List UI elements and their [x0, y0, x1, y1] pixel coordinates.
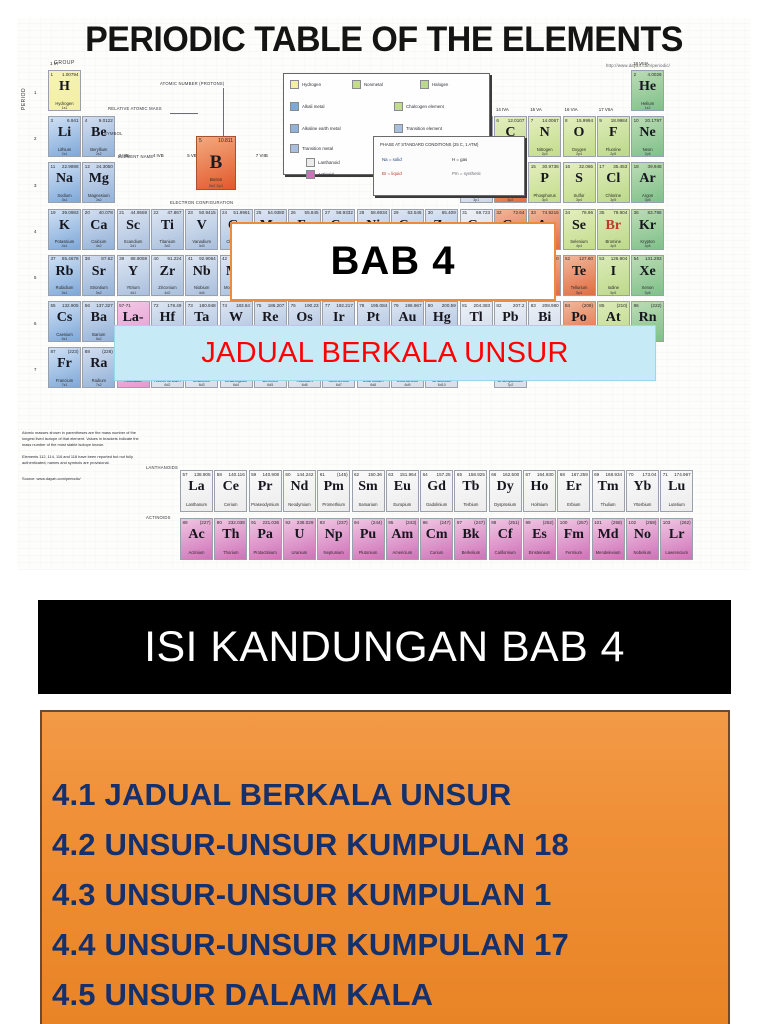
atomic-mass: 173.04: [642, 472, 656, 477]
contents-heading-bar: ISI KANDUNGAN BAB 4: [38, 600, 731, 694]
atomic-number: 34: [565, 210, 570, 215]
atomic-mass: (262): [680, 520, 691, 525]
element-cell-P: 1530.9738PPhosphorus3p3: [528, 162, 561, 203]
atomic-number: 83: [531, 303, 536, 308]
element-symbol: Lu: [661, 480, 692, 494]
element-cell-V: 2350.9415VVanadium3d3: [185, 209, 218, 250]
legend-phase-label: Na = solid: [382, 157, 402, 162]
key-atomic-mass: 10.811: [218, 138, 233, 144]
atomic-number: 35: [599, 210, 604, 215]
periodic-table-footnote: Atomic masses shown in parentheses are t…: [22, 430, 140, 545]
atomic-number: 18: [634, 164, 639, 169]
electron-config: 2s1: [49, 152, 80, 156]
element-symbol: K: [49, 219, 80, 233]
legend-swatch-icon: [290, 80, 299, 89]
atomic-mass: 186.207: [268, 303, 285, 308]
atomic-mass: 85.4678: [62, 256, 79, 261]
element-symbol: I: [598, 265, 629, 279]
atomic-mass: (258): [611, 520, 622, 525]
atomic-number: 75: [256, 303, 261, 308]
element-symbol: Gd: [421, 480, 452, 494]
atomic-mass: 138.905: [194, 472, 211, 477]
atomic-number: 27: [325, 210, 330, 215]
atomic-mass: 207.2: [513, 303, 525, 308]
element-symbol: V: [186, 219, 217, 233]
period-number-5: 5: [34, 275, 36, 280]
chapter-subtitle-text: JADUAL BERKALA UNSUR: [201, 337, 569, 370]
annotation-symbol: SYMBOL: [104, 131, 123, 136]
electron-config: 3p3: [529, 198, 560, 202]
atomic-number: 24: [222, 210, 227, 215]
atomic-number: 23: [188, 210, 193, 215]
element-symbol: Cl: [598, 172, 629, 186]
legend-item-4: Alkali metal: [290, 102, 324, 111]
atomic-number: 63: [388, 472, 393, 477]
element-name: Uranium: [284, 550, 315, 555]
legend-phase-title: PHASE AT STANDARD CONDITIONS (25 C, 1 AT…: [380, 142, 478, 147]
element-name: Erbium: [558, 502, 589, 507]
element-symbol: Y: [118, 265, 149, 279]
electron-config: 2p4: [564, 152, 595, 156]
contents-item-4[interactable]: 4.4 UNSUR-UNSUR KUMPULAN 17: [48, 920, 728, 970]
element-symbol: Bk: [455, 528, 486, 542]
element-symbol: Xe: [632, 265, 663, 279]
element-cell-O: 815.9994OOxygen2p4: [563, 116, 596, 157]
element-cell-Ca: 2040.078CaCalcium4s2: [82, 209, 115, 250]
element-symbol: Ir: [323, 311, 354, 325]
atomic-number: 77: [325, 303, 330, 308]
period-number-1: 1: [34, 90, 36, 95]
electron-config: 3d2: [152, 244, 183, 248]
element-cell-Na: 1122.9898NaSodium3s1: [48, 162, 81, 203]
element-symbol: Nb: [186, 265, 217, 279]
atomic-number: 67: [526, 472, 531, 477]
atomic-number: 20: [85, 210, 90, 215]
annotation-element-name: ELEMENT NAME: [118, 154, 153, 159]
element-symbol: Ar: [632, 172, 663, 186]
atomic-mass: 231.036: [262, 520, 279, 525]
element-symbol: Sc: [118, 219, 149, 233]
legend-swatch-icon: [290, 102, 299, 111]
atomic-mass: 238.029: [297, 520, 314, 525]
group-header-1: 1 IA: [50, 61, 58, 66]
key-element-name: Boron: [197, 177, 235, 182]
element-symbol: P: [529, 172, 560, 186]
electron-config: 3p2: [495, 198, 526, 202]
element-cell-He: 24.0026HeHelium1s2: [631, 70, 664, 111]
atomic-mass: 195.084: [371, 303, 388, 308]
contents-item-5[interactable]: 4.5 UNSUR DALAM KALA: [48, 970, 728, 1020]
element-symbol: Rn: [632, 311, 663, 325]
legend-label: Halogen: [432, 82, 448, 87]
contents-heading-text: ISI KANDUNGAN BAB 4: [144, 623, 625, 672]
element-symbol: Br: [598, 219, 629, 233]
atomic-number: 91: [251, 520, 256, 525]
atomic-number: 8: [565, 118, 568, 123]
legend-swatch-icon: [352, 80, 361, 89]
element-symbol: Eu: [387, 480, 418, 494]
electron-config: 3p5: [598, 198, 629, 202]
element-symbol: Pu: [353, 528, 384, 542]
key-symbol: B: [197, 152, 235, 174]
electron-config: 7s2: [83, 383, 114, 387]
element-symbol: Am: [387, 528, 418, 542]
element-symbol: Np: [318, 528, 349, 542]
actinide-cell-No: 102(259)NoNobelium: [626, 518, 659, 560]
contents-panel: 4.1 JADUAL BERKALA UNSUR4.2 UNSUR-UNSUR …: [40, 710, 730, 1024]
atomic-mass: 20.1797: [645, 118, 662, 123]
atomic-mass: (210): [617, 303, 628, 308]
element-symbol: Au: [392, 311, 423, 325]
element-cell-Rb: 3785.4678RbRubidium5s1: [48, 255, 81, 296]
atomic-mass: (222): [651, 303, 662, 308]
element-symbol: O: [564, 126, 595, 140]
element-name: Ytterbium: [627, 502, 658, 507]
element-symbol: Kr: [632, 219, 663, 233]
atomic-mass: 167.259: [571, 472, 588, 477]
atomic-mass: 190.23: [305, 303, 319, 308]
atomic-mass: 54.9380: [268, 210, 285, 215]
legend-swatch-icon: [420, 80, 429, 89]
atomic-number: 22: [153, 210, 158, 215]
atomic-number: 76: [291, 303, 296, 308]
atomic-mass: (251): [508, 520, 519, 525]
atomic-mass: 162.500: [503, 472, 520, 477]
atomic-mass: (226): [102, 349, 113, 354]
period-number-7: 7: [34, 367, 36, 372]
atomic-number: 10: [634, 118, 639, 123]
element-symbol: Te: [564, 265, 595, 279]
annotation-leader-line-1: [223, 88, 224, 136]
atomic-number: 71: [663, 472, 668, 477]
element-name: Americium: [387, 550, 418, 555]
atomic-number: 21: [119, 210, 124, 215]
element-name: Lanthanum: [181, 502, 212, 507]
annotation-atomic-number: ATOMIC NUMBER (PROTONS): [160, 81, 224, 86]
legend-swatch-icon: [306, 170, 315, 179]
element-name: Europium: [387, 502, 418, 507]
legend-label: Hydrogen: [302, 82, 321, 87]
atomic-mass: 158.925: [468, 472, 485, 477]
element-symbol: Cm: [421, 528, 452, 542]
contents-item-1[interactable]: 4.1 JADUAL BERKALA UNSUR: [48, 770, 728, 820]
chapter-subtitle-box: JADUAL BERKALA UNSUR: [114, 325, 656, 381]
element-symbol: Dy: [490, 480, 521, 494]
element-symbol: Pr: [250, 480, 281, 494]
atomic-number: 26: [291, 210, 296, 215]
atomic-mass: (247): [474, 520, 485, 525]
legend-item-3: Halogen: [420, 80, 448, 89]
actinide-cell-Cm: 96(247)CmCurium: [420, 518, 453, 560]
atomic-number: 95: [388, 520, 393, 525]
element-symbol: N: [529, 126, 560, 140]
annotation-relative-mass: RELATIVE ATOMIC MASS: [108, 106, 162, 111]
atomic-number: 85: [599, 303, 604, 308]
actinide-cell-Es: 99(252)EsEinsteinium: [523, 518, 556, 560]
atomic-mass: 137.327: [96, 303, 113, 308]
element-symbol: La: [181, 480, 212, 494]
atomic-number: 33: [531, 210, 536, 215]
period-number-6: 6: [34, 321, 36, 326]
actinide-cell-Am: 95(243)AmAmericium: [386, 518, 419, 560]
lanthanide-cell-Tb: 65158.925TbTerbium: [454, 470, 487, 512]
element-name: Thorium: [215, 550, 246, 555]
atomic-mass: 78.96: [582, 210, 594, 215]
atomic-mass: 1.00794: [62, 72, 79, 77]
electron-config: 5s2: [83, 291, 114, 295]
key-example-element: 5 10.811 B Boron 2s2 2p1: [196, 136, 236, 190]
element-name: Promethium: [318, 502, 349, 507]
atomic-mass: 168.934: [605, 472, 622, 477]
atomic-mass: 58.6934: [371, 210, 388, 215]
legend-label: Alkaline earth metal: [302, 126, 341, 131]
element-cell-Xe: 54131.293XeXenon5p6: [631, 255, 664, 296]
element-symbol: Pm: [318, 480, 349, 494]
legend-phase-label: Br = liquid: [382, 171, 402, 176]
actinide-cell-Np: 93(237)NpNeptunium: [317, 518, 350, 560]
electron-config: 2p5: [598, 152, 629, 156]
legend-phase-box: PHASE AT STANDARD CONDITIONS (25 C, 1 AT…: [373, 136, 525, 196]
atomic-mass: 65.409: [442, 210, 456, 215]
atomic-mass: (209): [582, 303, 593, 308]
atomic-number: 60: [285, 472, 290, 477]
atomic-number: 12: [85, 164, 90, 169]
atomic-number: 6: [496, 118, 499, 123]
electron-config: 6d10: [426, 383, 457, 387]
element-cell-Sr: 3887.62SrStrontium5s2: [82, 255, 115, 296]
element-name: Californium: [490, 550, 521, 555]
atomic-number: 58: [217, 472, 222, 477]
legend-label: Nonmetal: [364, 82, 383, 87]
lanthanoid-row-label: LANTHANOIDS: [146, 465, 178, 470]
electron-config: 6d6: [289, 383, 320, 387]
lanthanide-cell-Lu: 71174.967LuLutetium: [660, 470, 693, 512]
annotation-leader-line-2: [170, 113, 198, 114]
atomic-mass: (257): [577, 520, 588, 525]
element-symbol: Ra: [83, 357, 114, 371]
contents-item-2[interactable]: 4.2 UNSUR-UNSUR KUMPULAN 18: [48, 820, 728, 870]
element-symbol: S: [564, 172, 595, 186]
atomic-number: 52: [565, 256, 570, 261]
element-cell-N: 714.0067NNitrogen2p3: [528, 116, 561, 157]
atomic-mass: 4.0026: [648, 72, 662, 77]
atomic-number: 9: [599, 118, 602, 123]
atomic-mass: 18.9984: [611, 118, 628, 123]
element-symbol: Ca: [83, 219, 114, 233]
period-number-4: 4: [34, 229, 36, 234]
lanthanide-cell-Dy: 66162.500DyDysprosium: [489, 470, 522, 512]
atomic-mass: 69.723: [476, 210, 490, 215]
period-axis-label: PERIOD: [21, 88, 27, 110]
element-symbol: Tl: [461, 311, 492, 325]
legend-item-11: Actinoid: [306, 170, 334, 179]
element-name: Holmium: [524, 502, 555, 507]
atomic-number: 86: [634, 303, 639, 308]
element-name: Fermium: [558, 550, 589, 555]
atomic-number: 98: [491, 520, 496, 525]
element-symbol: Yb: [627, 480, 658, 494]
electron-config: 6d7: [323, 383, 354, 387]
electron-config: 3d3: [186, 244, 217, 248]
legend-phase-item-4: H = gas: [452, 157, 467, 162]
element-symbol: Li: [49, 126, 80, 140]
atomic-mass: (252): [543, 520, 554, 525]
element-cell-Ne: 1020.1797NeNeon2p6: [631, 116, 664, 157]
atomic-mass: 180.948: [199, 303, 216, 308]
lanthanide-cell-Pm: 61(145)PmPromethium: [317, 470, 350, 512]
atomic-mass: 178.49: [167, 303, 181, 308]
lanthanide-cell-Gd: 64157.25GdGadolinium: [420, 470, 453, 512]
atomic-mass: 63.546: [407, 210, 421, 215]
atomic-number: 15: [531, 164, 536, 169]
element-symbol: Hg: [426, 311, 457, 325]
atomic-number: 68: [560, 472, 565, 477]
lanthanide-cell-La: 57138.905LaLanthanum: [180, 470, 213, 512]
legend-label: Chalcogen element: [406, 104, 444, 109]
atomic-mass: (145): [337, 472, 348, 477]
periodic-table-title: PERIODIC TABLE OF THE ELEMENTS: [29, 20, 739, 60]
atomic-mass: 164.930: [537, 472, 554, 477]
lanthanide-cell-Ce: 58140.116CeCerium: [214, 470, 247, 512]
atomic-mass: 174.967: [674, 472, 691, 477]
atomic-number: 42: [222, 256, 227, 261]
atomic-mass: 183.84: [236, 303, 250, 308]
element-name: Lutetium: [661, 502, 692, 507]
atomic-mass: 74.9216: [542, 210, 559, 215]
element-cell-Te: 52127.60TeTellurium5p4: [563, 255, 596, 296]
actinide-cell-Th: 90232.038ThThorium: [214, 518, 247, 560]
element-cell-Cl: 1735.453ClChlorine3p5: [597, 162, 630, 203]
element-symbol: Hf: [152, 311, 183, 325]
electron-config: 6d9: [392, 383, 423, 387]
electron-config: 3p6: [632, 198, 663, 202]
atomic-number: 102: [628, 520, 636, 525]
legend-item-10: Lanthanoid: [306, 158, 340, 167]
electron-config: 5p6: [632, 291, 663, 295]
atomic-mass: (244): [371, 520, 382, 525]
atomic-number: 82: [496, 303, 501, 308]
element-symbol: H: [49, 80, 80, 94]
atomic-number: 37: [51, 256, 56, 261]
element-name: Lawrencium: [661, 550, 692, 555]
element-symbol: Md: [593, 528, 624, 542]
atomic-number: 81: [462, 303, 467, 308]
element-symbol: At: [598, 311, 629, 325]
atomic-number: 55: [51, 303, 56, 308]
lanthanide-cell-Nd: 60144.242NdNeodymium: [283, 470, 316, 512]
element-symbol: Ce: [215, 480, 246, 494]
lanthanide-cell-Er: 68167.259ErErbium: [557, 470, 590, 512]
contents-item-6[interactable]: 4.6 UNSUR PERALIHAN: [48, 1020, 728, 1024]
element-symbol: Po: [564, 311, 595, 325]
element-symbol: Se: [564, 219, 595, 233]
element-name: Protactinium: [250, 550, 281, 555]
atomic-mass: 196.967: [405, 303, 422, 308]
atomic-mass: 144.242: [297, 472, 314, 477]
electron-config: 7s1: [49, 383, 80, 387]
atomic-mass: (259): [646, 520, 657, 525]
atomic-mass: 232.038: [228, 520, 245, 525]
atomic-number: 78: [359, 303, 364, 308]
legend-label: Actinoid: [318, 172, 334, 177]
element-cell-F: 918.9984FFluorine2p5: [597, 116, 630, 157]
element-name: Samarium: [353, 502, 384, 507]
electron-config: 4d2: [152, 291, 183, 295]
atomic-mass: 9.0122: [99, 118, 113, 123]
electron-config: 4s1: [49, 244, 80, 248]
element-symbol: Er: [558, 480, 589, 494]
atomic-number: 70: [628, 472, 633, 477]
electron-config: 1s1: [49, 106, 80, 110]
electron-config: 6s1: [49, 337, 80, 341]
element-symbol: Sm: [353, 480, 384, 494]
electron-config: 3d1: [118, 244, 149, 248]
atomic-mass: 12.0107: [508, 118, 525, 123]
element-symbol: Ho: [524, 480, 555, 494]
element-symbol: Es: [524, 528, 555, 542]
atomic-mass: 132.905: [62, 303, 79, 308]
atomic-mass: 35.453: [613, 164, 627, 169]
atomic-number: 72: [153, 303, 158, 308]
atomic-number: 100: [560, 520, 568, 525]
group-header-17: 17 VIIA: [599, 107, 613, 112]
lanthanide-cell-Tm: 69168.934TmThulium: [592, 470, 625, 512]
contents-item-3[interactable]: 4.3 UNSUR-UNSUR KUMPULAN 1: [48, 870, 728, 920]
atomic-mass: 50.9415: [199, 210, 216, 215]
legend-phase-item-2: Br = liquid: [382, 171, 402, 176]
atomic-number: 32: [496, 210, 501, 215]
atomic-number: 69: [594, 472, 599, 477]
atomic-mass: 47.867: [167, 210, 181, 215]
electron-config: 5p4: [564, 291, 595, 295]
legend-item-7: Transition element: [394, 124, 442, 133]
atomic-number: 101: [594, 520, 602, 525]
element-symbol: Tm: [593, 480, 624, 494]
atomic-mass: 24.3050: [96, 164, 113, 169]
element-cell-Fr: 87(223)FrFrancium7s1: [48, 347, 81, 388]
atomic-number: 64: [423, 472, 428, 477]
electron-config: 5s1: [49, 291, 80, 295]
legend-swatch-icon: [394, 124, 403, 133]
atomic-number: 3: [51, 118, 54, 123]
lanthanide-cell-Pr: 59140.908PrPraseodymium: [249, 470, 282, 512]
electron-config: 4d1: [118, 291, 149, 295]
atomic-number: 66: [491, 472, 496, 477]
element-symbol: Cf: [490, 528, 521, 542]
key-electron-config: 2s2 2p1: [197, 183, 235, 188]
atomic-number: 61: [320, 472, 325, 477]
atomic-number: 96: [423, 520, 428, 525]
legend-item-1: Hydrogen: [290, 80, 321, 89]
actinide-cell-Pa: 91231.036PaProtactinium: [249, 518, 282, 560]
atomic-mass: 131.293: [645, 256, 662, 261]
footnote-paragraph-3: Source: www.dayah.com/periodic/: [22, 476, 140, 482]
legend-swatch-icon: [290, 144, 299, 153]
element-name: Gadolinium: [421, 502, 452, 507]
footnote-paragraph-2: Elements 112, 114, 116 and 118 have been…: [22, 454, 140, 466]
legend-item-8: Transition metal: [290, 144, 333, 153]
atomic-mass: 39.948: [648, 164, 662, 169]
atomic-number: 80: [428, 303, 433, 308]
electron-config: 3p1: [461, 198, 492, 202]
atomic-mass: 127.60: [579, 256, 593, 261]
element-cell-Be: 49.0122BeBeryllium2s2: [82, 116, 115, 157]
legend-label: Alkali metal: [302, 104, 324, 109]
electron-config: 2p6: [632, 152, 663, 156]
atomic-number: 90: [217, 520, 222, 525]
atomic-mass: (237): [337, 520, 348, 525]
element-symbol: Bi: [529, 311, 560, 325]
